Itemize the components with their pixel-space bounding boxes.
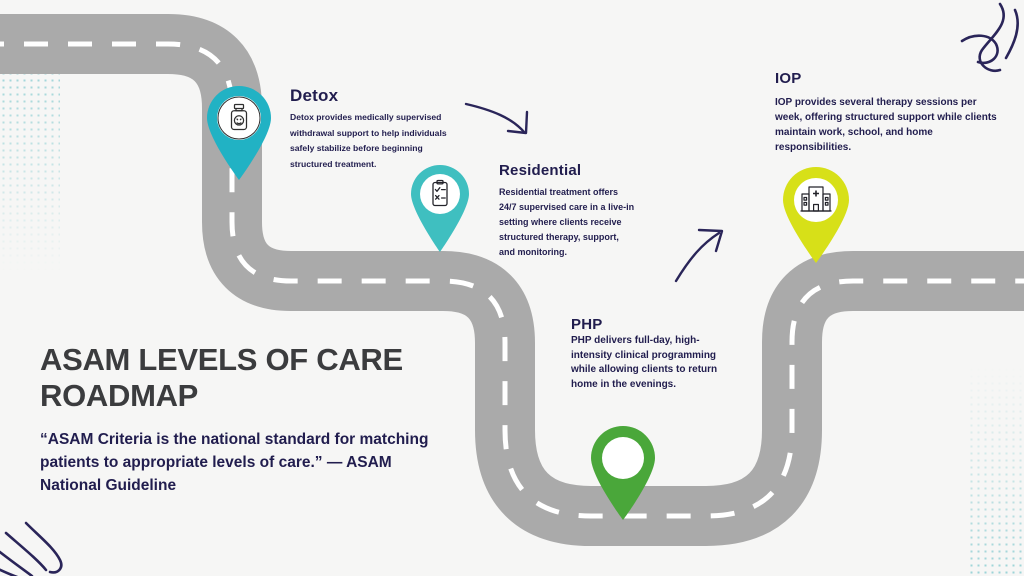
map-pin-detox[interactable] (203, 85, 275, 181)
node-body-residential: Residential treatment offers 24/7 superv… (499, 185, 635, 260)
pin-inner-circle (217, 96, 261, 140)
pin-inner-circle (794, 178, 838, 222)
node-text-detox: Detox Detox provides medically supervise… (290, 86, 466, 172)
node-title-iop: IOP (775, 70, 1000, 87)
map-pin-iop[interactable] (779, 166, 853, 264)
map-pin-residential[interactable] (408, 163, 472, 253)
node-text-iop: IOP IOP provides several therapy session… (775, 70, 1000, 155)
node-title-php: PHP (571, 316, 729, 333)
headline-quote: “ASAM Criteria is the national standard … (40, 428, 440, 497)
page-title: ASAM LEVELS OF CARE ROADMAP (40, 342, 440, 414)
blank-circle-icon (602, 437, 644, 479)
node-text-residential: Residential Residential treatment offers… (499, 162, 635, 260)
node-body-php: PHP delivers full-day, high-intensity cl… (571, 334, 729, 392)
node-text-php: PHP PHP delivers full-day, high-intensit… (571, 316, 729, 392)
node-title-residential: Residential (499, 162, 635, 179)
node-body-detox: Detox provides medically supervised with… (290, 110, 466, 172)
node-title-detox: Detox (290, 86, 466, 106)
headline-block: ASAM LEVELS OF CARE ROADMAP “ASAM Criter… (40, 342, 440, 497)
infographic-canvas: Detox Detox provides medically supervise… (0, 0, 1024, 576)
node-body-iop: IOP provides several therapy sessions pe… (775, 95, 1000, 155)
map-pin-php[interactable] (587, 425, 659, 521)
